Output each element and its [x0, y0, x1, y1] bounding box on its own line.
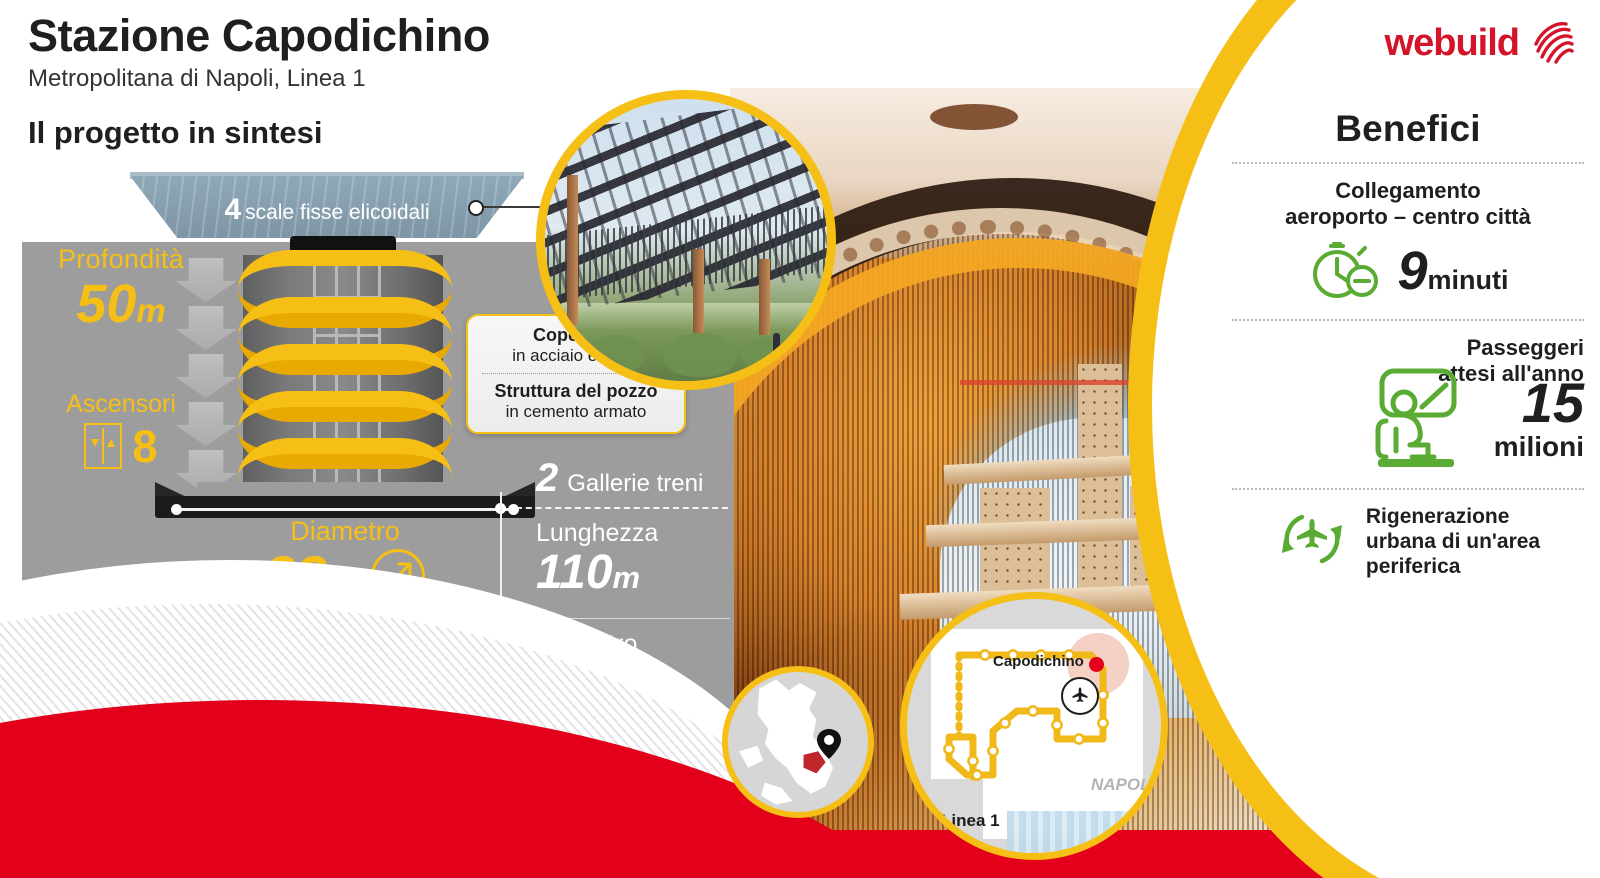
ceiling-vent — [930, 104, 1018, 130]
benefit-item-passengers: Passeggeri attesi all'anno — [1232, 335, 1584, 474]
seated-passenger-icon — [1360, 363, 1472, 474]
airplane-recycle-icon — [1276, 505, 1348, 578]
italy-silhouette — [728, 672, 868, 812]
benefit-item-regeneration: Rigenerazione urbana di un'area periferi… — [1232, 504, 1584, 580]
page-subtitle: Metropolitana di Napoli, Linea 1 — [28, 65, 490, 93]
benefit-1-value: 9 — [1397, 241, 1427, 301]
tunnel-count: 2 — [536, 458, 558, 498]
canopy-label-text: scale fisse elicoidali — [245, 201, 429, 224]
benefit-item-travel-time: Collegamento aeroporto – centro città — [1232, 178, 1584, 307]
stopwatch-icon — [1307, 236, 1383, 307]
napoli-metro-map: Capodichino Linea 1 NAPOLI — [900, 592, 1168, 860]
benefit-2-unit: milioni — [1494, 431, 1584, 463]
benefits-panel: Benefici Collegamento aeroporto – centro… — [1232, 108, 1584, 579]
benefit-2-line1: Passeggeri — [1232, 335, 1584, 361]
tunnel-count-label: Gallerie treni — [567, 470, 703, 498]
canopy-label: 4scale fisse elicoidali — [130, 193, 524, 227]
benefit-1-line2: aeroporto – centro città — [1232, 204, 1584, 230]
canopy-render-photo — [536, 90, 836, 390]
tunnel-length-label: Lunghezza — [536, 520, 730, 548]
depth-value: 50 — [76, 274, 136, 334]
italy-locator-map — [722, 666, 874, 818]
elevators-label: Ascensori — [36, 390, 206, 419]
location-pin-icon — [816, 728, 842, 760]
webuild-globe-icon — [1528, 18, 1574, 69]
tunnel-length-block: Lunghezza 110m — [512, 498, 730, 608]
diameter-dimension-line — [176, 508, 514, 511]
benefit-1-unit: minuti — [1428, 265, 1509, 295]
elevators-value: 8 — [132, 424, 157, 469]
canopy-count: 4 — [224, 193, 241, 226]
stat-elevators: Ascensori 8 — [36, 390, 206, 469]
webuild-logo: webuild — [1385, 18, 1574, 69]
stat-depth: Profondità 50m — [36, 244, 206, 331]
elevator-icon — [84, 423, 122, 469]
callout-shaft-title: Struttura del pozzo — [480, 381, 672, 402]
benefit-3-line1: Rigenerazione — [1366, 504, 1540, 529]
tunnel-length-value: 110 — [536, 546, 613, 599]
section-title: Il progetto in sintesi — [28, 115, 490, 151]
station-marker-dot — [1089, 657, 1104, 672]
shaft-diameter-label: Diametro — [180, 516, 510, 547]
benefits-title: Benefici — [1232, 108, 1584, 150]
webuild-wordmark: webuild — [1385, 22, 1519, 65]
map-line-label: Linea 1 — [941, 811, 1000, 831]
helical-stairs — [238, 250, 452, 500]
benefit-2-value: 15 — [1494, 374, 1584, 431]
benefit-1-line1: Collegamento — [1232, 178, 1584, 204]
divider — [1232, 162, 1584, 164]
callout-shaft-sub: in cemento armato — [480, 402, 672, 422]
depth-unit: m — [136, 292, 165, 329]
photo-perforated-pier — [1078, 364, 1122, 594]
station-base-platform — [155, 482, 535, 518]
benefit-3-line2: urbana di un'area — [1366, 529, 1540, 554]
header: Stazione Capodichino Metropolitana di Na… — [28, 10, 490, 151]
depth-label: Profondità — [36, 244, 206, 275]
map-city-label: NAPOLI — [1091, 775, 1155, 795]
page-title: Stazione Capodichino — [28, 10, 490, 62]
benefit-3-line3: periferica — [1366, 554, 1540, 579]
tunnel-length-unit: m — [613, 560, 641, 595]
airplane-icon — [1061, 677, 1099, 715]
map-station-label: Capodichino — [993, 653, 1084, 670]
infographic-canvas: 4scale fisse elicoidali Profondità 50m A… — [0, 0, 1600, 878]
connector-knob — [468, 200, 484, 216]
